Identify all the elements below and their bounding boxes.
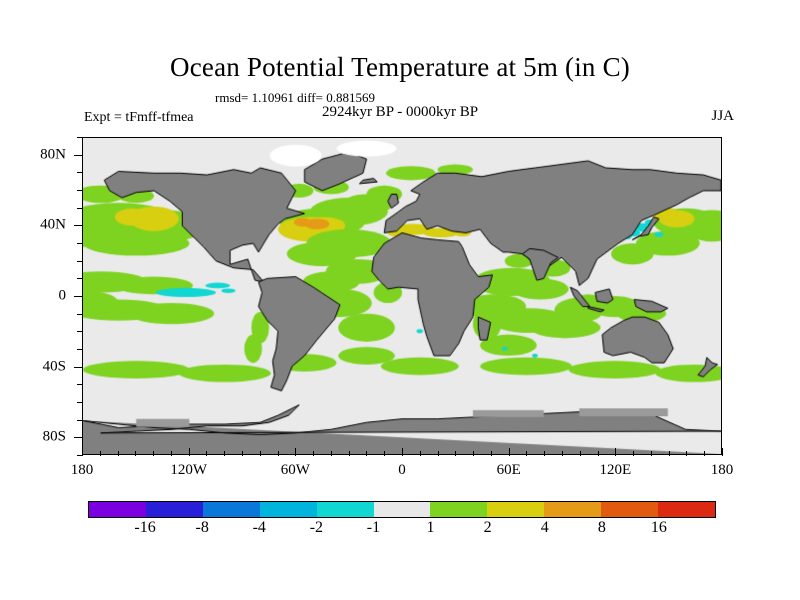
x-tick bbox=[438, 451, 439, 456]
x-tick bbox=[669, 451, 670, 456]
y-tick bbox=[77, 208, 82, 209]
x-tick bbox=[349, 451, 350, 456]
y-tick bbox=[74, 155, 82, 156]
colorbar-tick-label: 2 bbox=[484, 519, 492, 537]
y-tick bbox=[77, 137, 82, 138]
colorbar-labels: -16-8-4-2-1124816 bbox=[88, 519, 716, 541]
x-tick bbox=[455, 451, 456, 456]
colorbar-tick-label: 16 bbox=[651, 519, 667, 537]
y-tick bbox=[74, 296, 82, 297]
x-tick bbox=[206, 451, 207, 456]
x-tick bbox=[473, 451, 474, 456]
x-tick bbox=[135, 451, 136, 456]
x-tick bbox=[580, 451, 581, 456]
y-tick bbox=[77, 278, 82, 279]
x-tick bbox=[384, 451, 385, 456]
x-tick bbox=[598, 451, 599, 456]
y-tick-label: 40N bbox=[40, 217, 66, 234]
colorbar-band-0 bbox=[89, 502, 146, 517]
map-plot-area bbox=[82, 137, 722, 455]
x-tick bbox=[331, 451, 332, 456]
colorbar-tick-label: -4 bbox=[253, 519, 266, 537]
colorbar-band-1 bbox=[146, 502, 203, 517]
colorbar-band-2 bbox=[203, 502, 260, 517]
x-tick-label: 180 bbox=[711, 462, 734, 479]
y-tick-label: 0 bbox=[59, 288, 67, 305]
colorbar-tick-label: -2 bbox=[310, 519, 323, 537]
y-tick bbox=[77, 172, 82, 173]
x-tick-label: 60E bbox=[497, 462, 521, 479]
y-tick bbox=[77, 331, 82, 332]
x-tick-label: 0 bbox=[398, 462, 406, 479]
y-axis: 80N40N040S80S bbox=[82, 137, 83, 455]
x-tick bbox=[171, 451, 172, 456]
colorbar-band-5 bbox=[374, 502, 431, 517]
x-tick bbox=[615, 448, 616, 456]
x-tick bbox=[189, 448, 190, 456]
y-tick-label: 80N bbox=[40, 146, 66, 163]
x-tick bbox=[118, 451, 119, 456]
x-tick-label: 120W bbox=[170, 462, 207, 479]
colorbar-band-8 bbox=[544, 502, 601, 517]
x-tick bbox=[402, 448, 403, 456]
colorbar-tick-label: 8 bbox=[598, 519, 606, 537]
colorbar-band-6 bbox=[430, 502, 487, 517]
x-tick bbox=[260, 451, 261, 456]
colorbar-band-7 bbox=[487, 502, 544, 517]
x-tick bbox=[722, 448, 723, 456]
colorbar-tick-label: 4 bbox=[541, 519, 549, 537]
y-tick bbox=[77, 243, 82, 244]
y-tick bbox=[77, 349, 82, 350]
y-tick bbox=[77, 261, 82, 262]
colorbar-band-3 bbox=[260, 502, 317, 517]
y-tick bbox=[77, 190, 82, 191]
x-tick bbox=[633, 451, 634, 456]
x-tick bbox=[295, 448, 296, 456]
y-tick-label: 40S bbox=[43, 358, 66, 375]
x-tick bbox=[526, 451, 527, 456]
x-tick bbox=[100, 451, 101, 456]
x-tick bbox=[224, 451, 225, 456]
experiment-label: Expt = tFmff-tfmea bbox=[84, 110, 194, 126]
y-tick bbox=[77, 314, 82, 315]
y-tick-label: 80S bbox=[43, 429, 66, 446]
colorbar-tick-label: 1 bbox=[427, 519, 435, 537]
x-tick bbox=[366, 451, 367, 456]
y-tick bbox=[77, 384, 82, 385]
colorbar-tick-label: -16 bbox=[134, 519, 155, 537]
x-tick bbox=[562, 451, 563, 456]
x-tick-label: 120E bbox=[599, 462, 631, 479]
x-tick bbox=[651, 451, 652, 456]
x-tick bbox=[704, 451, 705, 456]
y-tick bbox=[74, 225, 82, 226]
colorbar-tick-label: -8 bbox=[196, 519, 209, 537]
x-tick bbox=[278, 451, 279, 456]
x-tick bbox=[686, 451, 687, 456]
x-tick bbox=[509, 448, 510, 456]
x-tick bbox=[544, 451, 545, 456]
y-tick bbox=[74, 437, 82, 438]
x-tick bbox=[420, 451, 421, 456]
x-tick bbox=[153, 451, 154, 456]
page-title: Ocean Potential Temperature at 5m (in C) bbox=[0, 52, 800, 83]
y-tick bbox=[77, 455, 82, 456]
colorbar-tick-label: -1 bbox=[367, 519, 380, 537]
y-tick bbox=[77, 420, 82, 421]
x-tick bbox=[242, 451, 243, 456]
colorbar-band-4 bbox=[317, 502, 374, 517]
colorbar bbox=[88, 501, 716, 518]
colorbar-band-10 bbox=[658, 502, 715, 517]
x-tick bbox=[313, 451, 314, 456]
anomaly-map-canvas bbox=[83, 138, 721, 454]
x-tick bbox=[491, 451, 492, 456]
season-label: JJA bbox=[711, 108, 734, 125]
x-tick-label: 60W bbox=[281, 462, 310, 479]
colorbar-band-9 bbox=[601, 502, 658, 517]
y-tick bbox=[77, 402, 82, 403]
x-tick-label: 180 bbox=[71, 462, 94, 479]
x-axis: 180120W60W060E120E180 bbox=[82, 456, 722, 457]
y-tick bbox=[74, 367, 82, 368]
